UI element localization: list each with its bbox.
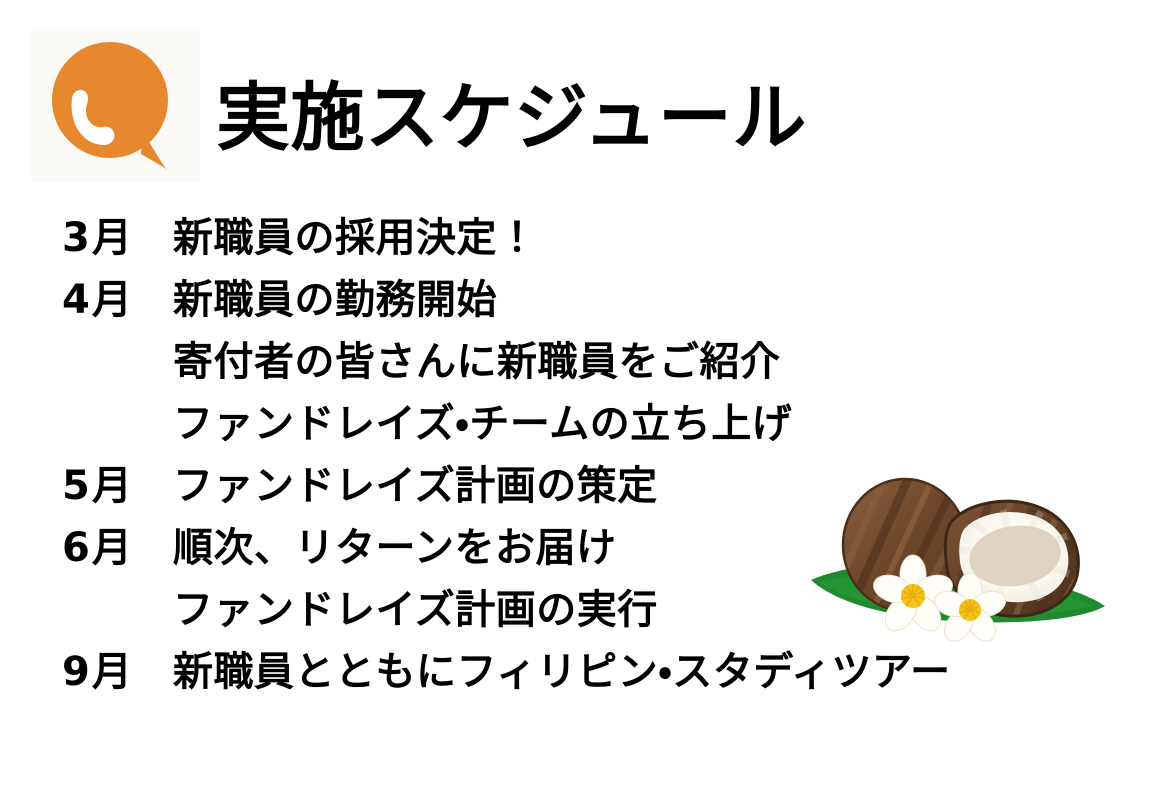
slide-canvas: 実施スケジュール 3月 新職員の採用決定！ 4月 新職員の勤務開始 寄付者の皆さ…: [0, 0, 1159, 809]
coconut-illustration-icon: [793, 450, 1123, 650]
schedule-row: ファンドレイズ・チームの立ち上げ: [0, 393, 1159, 455]
slide-header: 実施スケジュール: [0, 0, 1159, 200]
schedule-month: 9月: [62, 641, 166, 703]
schedule-row: 9月 新職員とともにフィリピン・スタディツアー: [0, 641, 1159, 703]
schedule-description: 新職員の勤務開始: [173, 269, 497, 331]
schedule-description: 順次、リターンをお届け: [173, 517, 617, 579]
schedule-description: 新職員とともにフィリピン・スタディツアー: [173, 641, 951, 703]
schedule-row: 寄付者の皆さんに新職員をご紹介: [0, 331, 1159, 393]
schedule-month: 3月: [62, 207, 166, 269]
coconut-illustration: [793, 450, 1123, 650]
schedule-description: 新職員の採用決定！: [173, 207, 538, 269]
chat-bubble-phone-logo-icon: [31, 28, 200, 182]
schedule-row: 3月 新職員の採用決定！: [0, 207, 1159, 269]
schedule-month: 5月: [62, 455, 166, 517]
schedule-description: ファンドレイズ計画の策定: [173, 455, 658, 517]
schedule-month: 6月: [62, 517, 166, 579]
schedule-description: ファンドレイズ・チームの立ち上げ: [173, 393, 792, 455]
schedule-description: 寄付者の皆さんに新職員をご紹介: [173, 331, 781, 393]
logo-container: [31, 28, 200, 182]
schedule-row: 4月 新職員の勤務開始: [0, 269, 1159, 331]
schedule-description: ファンドレイズ計画の実行: [173, 579, 658, 641]
page-title: 実施スケジュール: [216, 80, 807, 158]
schedule-month: 4月: [62, 269, 166, 331]
